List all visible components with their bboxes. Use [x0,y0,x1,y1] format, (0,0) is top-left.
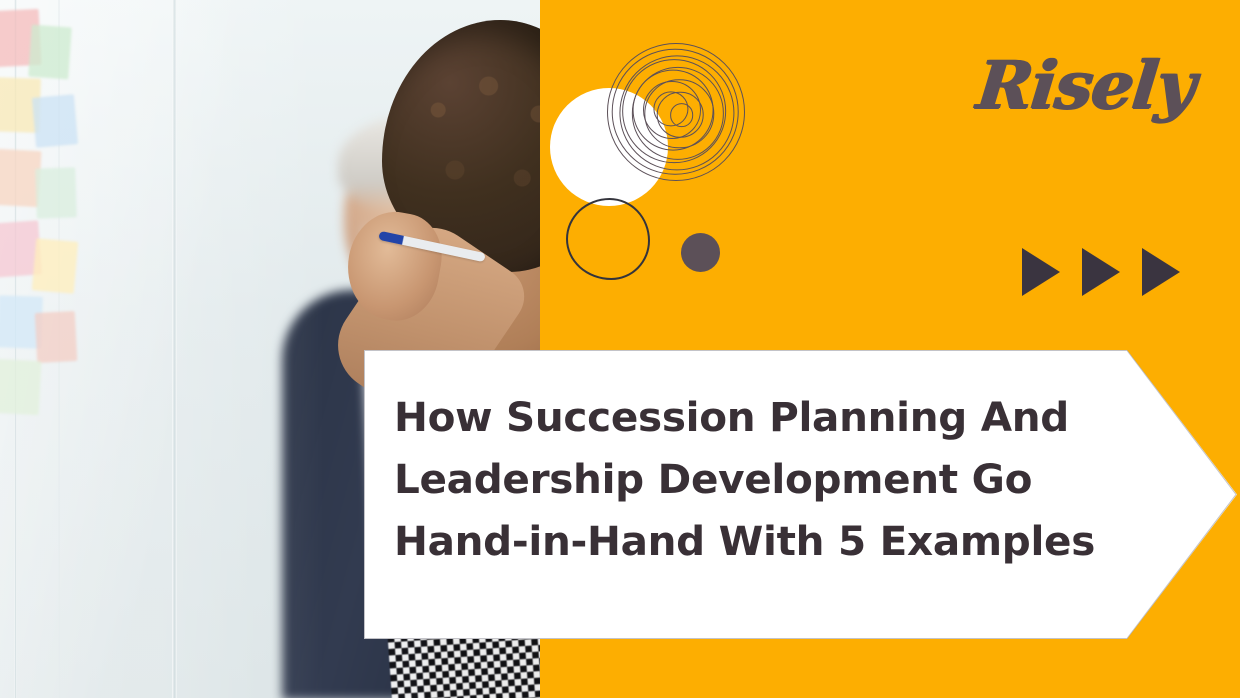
triangle-arrow-right-icon [1142,248,1180,296]
sticky-note [28,25,72,80]
whiteboard-seam [172,0,177,698]
sticky-note [35,167,77,218]
outlined-circle-icon [566,198,650,280]
dark-dot-icon [681,233,720,272]
title-line-3: Hand-in-Hand With 5 Examples [394,510,1184,572]
sticky-note [35,311,78,363]
cover-graphic: Risely How Succession Planning And Leade… [0,0,1240,698]
sticky-note [32,94,78,147]
title-line-2: Leadership Development Go [394,448,1184,510]
triangle-arrow-right-icon [1082,248,1120,296]
sticky-note [32,238,78,293]
sticky-notes-cluster [0,0,108,430]
arrow-group [1022,248,1180,296]
title-line-1: How Succession Planning And [394,386,1184,448]
triangle-arrow-right-icon [1022,248,1060,296]
concentric-rings-icon [608,44,744,180]
ring [670,103,694,127]
risely-logo[interactable]: Risely [974,52,1197,118]
page-title: How Succession Planning And Leadership D… [394,386,1184,572]
sticky-note [0,359,41,415]
